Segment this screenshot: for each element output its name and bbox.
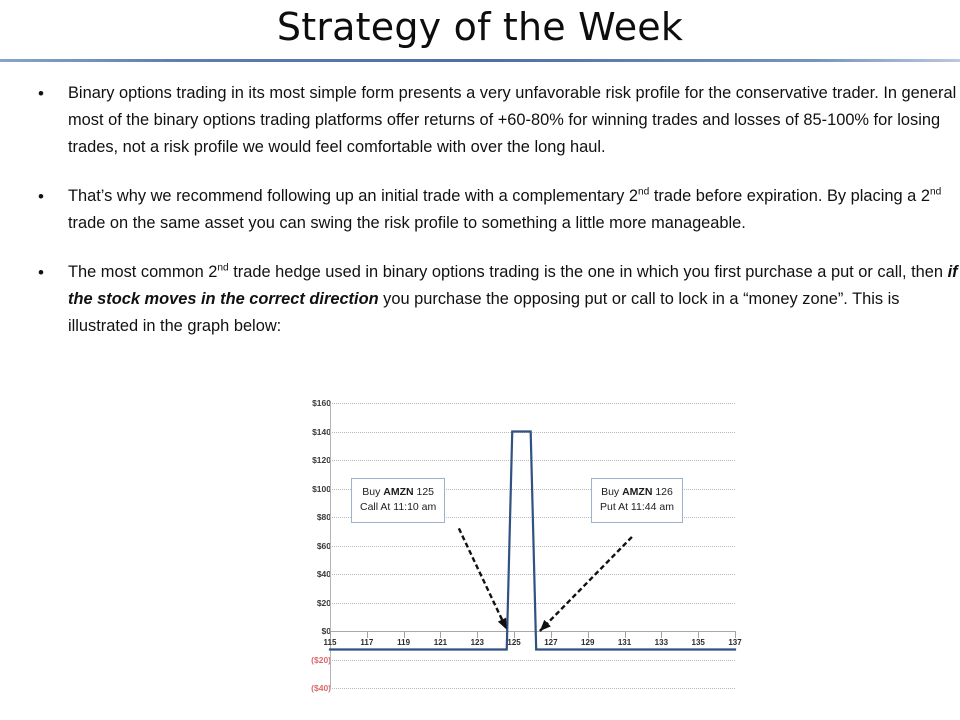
- callout-line: Call At 11:10 am: [360, 500, 436, 515]
- bullet-text: Binary options trading in its most simpl…: [68, 80, 960, 161]
- annotation-arrow-line: [540, 537, 632, 631]
- payoff-chart: $160$140$120$100$80$60$40$20$0($20)($40)…: [283, 388, 743, 693]
- callout-line: Buy AMZN 126: [600, 485, 674, 500]
- buy-call-callout: Buy AMZN 125 Call At 11:10 am: [351, 478, 445, 523]
- slide-body: • Binary options trading in its most sim…: [0, 62, 960, 340]
- callout-line: Buy AMZN 125: [360, 485, 436, 500]
- bullet-marker: •: [38, 80, 68, 107]
- list-item: • That’s why we recommend following up a…: [0, 183, 960, 237]
- list-item: • The most common 2nd trade hedge used i…: [0, 259, 960, 340]
- payoff-line: [283, 388, 743, 693]
- chart-plot-area: $160$140$120$100$80$60$40$20$0($20)($40)…: [283, 388, 743, 693]
- page-title: Strategy of the Week: [0, 0, 960, 46]
- bullet-marker: •: [38, 259, 68, 286]
- annotation-arrow-line: [459, 528, 507, 629]
- bullet-text: That’s why we recommend following up an …: [68, 183, 960, 237]
- bullet-text: The most common 2nd trade hedge used in …: [68, 259, 960, 340]
- callout-line: Put At 11:44 am: [600, 500, 674, 515]
- bullet-marker: •: [38, 183, 68, 210]
- list-item: • Binary options trading in its most sim…: [0, 80, 960, 161]
- buy-put-callout: Buy AMZN 126 Put At 11:44 am: [591, 478, 683, 523]
- annotation-arrowhead: [540, 620, 551, 631]
